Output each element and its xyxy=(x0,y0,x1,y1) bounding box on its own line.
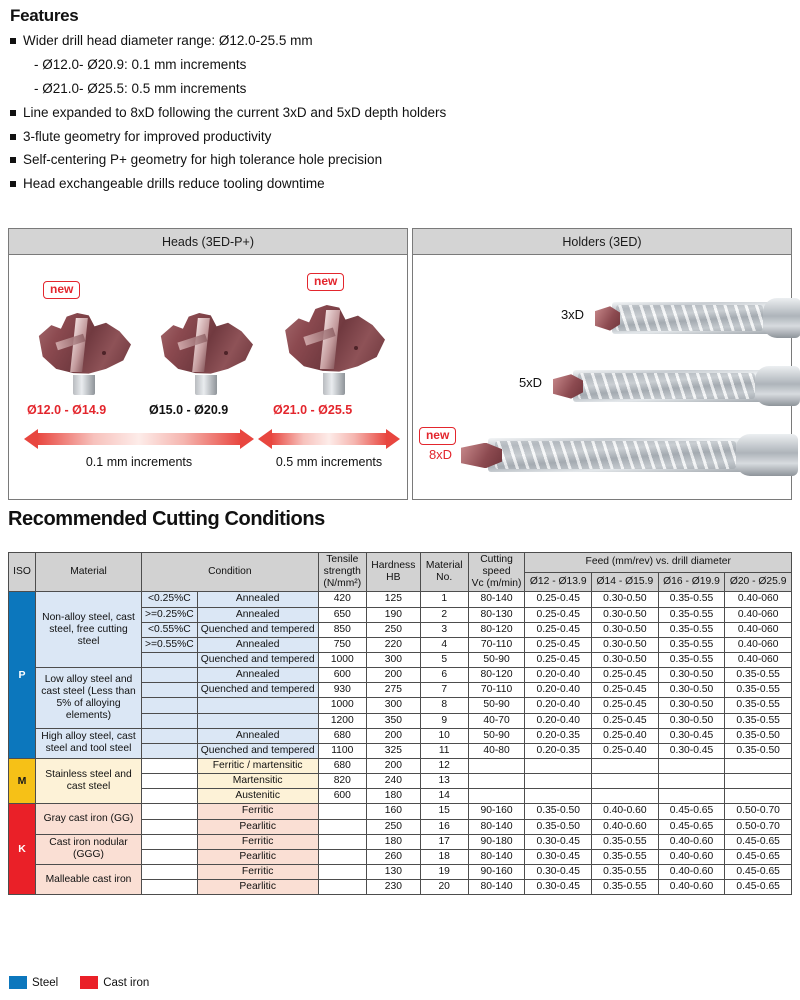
condition-value: Annealed xyxy=(197,668,318,683)
feed-value-1: 0.35-0.50 xyxy=(525,819,592,834)
legend: SteelCast iron xyxy=(9,976,171,989)
feed-value-3: 0.30-0.50 xyxy=(658,668,725,683)
iso-group-k: K xyxy=(9,804,36,895)
material-no-value: 11 xyxy=(420,743,468,758)
hardness-value: 240 xyxy=(366,774,420,789)
feed-value-2: 0.40-0.60 xyxy=(592,804,659,819)
condition-value: Ferritic xyxy=(197,864,318,879)
cutting-conditions-table: ISO Material Condition Tensile strength … xyxy=(8,552,792,895)
feed-value-1: 0.30-0.45 xyxy=(525,880,592,895)
condition-value: Quenched and tempered xyxy=(197,683,318,698)
hardness-value: 200 xyxy=(366,728,420,743)
feed-value-4: 0.40-060 xyxy=(725,637,792,652)
cutting-speed-value: 50-90 xyxy=(468,698,525,713)
header-hardness: Hardness HB xyxy=(366,553,420,592)
tensile-strength-value xyxy=(318,864,366,879)
header-hardness-line1: Hardness xyxy=(371,560,415,571)
condition-value: Austenitic xyxy=(197,789,318,804)
iso-group-p: P xyxy=(9,592,36,759)
legend-item: Steel xyxy=(9,976,58,989)
increment-arrow-01mm xyxy=(37,433,241,445)
feed-value-3: 0.30-0.50 xyxy=(658,698,725,713)
feed-value-3 xyxy=(658,774,725,789)
legend-item: Cast iron xyxy=(80,976,149,989)
header-material-no-line2: No. xyxy=(436,572,452,583)
feed-value-4: 0.35-0.55 xyxy=(725,668,792,683)
table-header: ISO Material Condition Tensile strength … xyxy=(9,553,792,592)
head-diameter-label-1: Ø12.0 - Ø14.9 xyxy=(27,403,106,417)
features-heading: Features xyxy=(10,6,792,26)
holders-panel: Holders (3ED) 3xD 5xD new 8xD xyxy=(412,228,792,500)
feature-item: 3-flute geometry for improved productivi… xyxy=(10,129,792,146)
feed-value-4: 0.50-0.70 xyxy=(725,804,792,819)
carbon-content xyxy=(142,864,198,879)
hardness-value: 180 xyxy=(366,789,420,804)
feed-value-3 xyxy=(658,789,725,804)
material-no-value: 16 xyxy=(420,819,468,834)
feed-value-2 xyxy=(592,789,659,804)
hardness-value: 200 xyxy=(366,668,420,683)
condition-value: Ferritic xyxy=(197,804,318,819)
feature-item: Line expanded to 8xD following the curre… xyxy=(10,105,792,122)
cutting-speed-value: 80-130 xyxy=(468,607,525,622)
feed-value-1: 0.20-0.40 xyxy=(525,713,592,728)
hardness-value: 220 xyxy=(366,637,420,652)
holder-label-3xd: 3xD xyxy=(561,307,584,322)
tensile-strength-value: 850 xyxy=(318,622,366,637)
material-no-value: 13 xyxy=(420,774,468,789)
feed-value-2: 0.30-0.50 xyxy=(592,622,659,637)
feature-sub-item: - Ø21.0- Ø25.5: 0.5 mm increments xyxy=(34,81,792,98)
material-no-value: 10 xyxy=(420,728,468,743)
table-row: MStainless steel and cast steelFerritic … xyxy=(9,758,792,773)
carbon-content xyxy=(142,758,198,773)
material-name: Malleable cast iron xyxy=(35,864,141,894)
head-diameter-label-2: Ø15.0 - Ø20.9 xyxy=(149,403,228,417)
condition-value: Ferritic xyxy=(197,834,318,849)
header-cutting-speed: Cutting speed Vc (m/min) xyxy=(468,553,525,592)
iso-group-m: M xyxy=(9,758,36,803)
holders-panel-body: 3xD 5xD new 8xD xyxy=(413,255,791,499)
feed-value-2 xyxy=(592,758,659,773)
cutting-speed-value: 90-180 xyxy=(468,834,525,849)
heads-panel-body: new Ø12.0 - Ø14.9 Ø15.0 - Ø20.9 new xyxy=(9,255,407,499)
feature-text: Line expanded to 8xD following the curre… xyxy=(23,105,446,122)
tensile-strength-value: 1100 xyxy=(318,743,366,758)
cutting-speed-value: 90-160 xyxy=(468,804,525,819)
tensile-strength-value xyxy=(318,880,366,895)
feed-value-3: 0.30-0.45 xyxy=(658,728,725,743)
carbon-content xyxy=(142,819,198,834)
feed-value-1: 0.30-0.45 xyxy=(525,864,592,879)
cutting-speed-value: 80-140 xyxy=(468,819,525,834)
hardness-value: 160 xyxy=(366,804,420,819)
new-badge-head-1: new xyxy=(43,281,80,299)
feed-value-4: 0.40-060 xyxy=(725,622,792,637)
feed-value-3: 0.30-0.50 xyxy=(658,713,725,728)
bullet-icon xyxy=(10,181,16,187)
condition-value: Quenched and tempered xyxy=(197,622,318,637)
feed-value-2: 0.35-0.55 xyxy=(592,880,659,895)
feed-value-4: 0.45-0.65 xyxy=(725,849,792,864)
hardness-value: 250 xyxy=(366,819,420,834)
cutting-speed-value: 40-80 xyxy=(468,743,525,758)
bullet-icon xyxy=(10,134,16,140)
holder-illustration-5xd xyxy=(553,365,800,407)
feed-value-1: 0.25-0.45 xyxy=(525,652,592,667)
hardness-value: 190 xyxy=(366,607,420,622)
feed-value-2 xyxy=(592,774,659,789)
material-no-value: 7 xyxy=(420,683,468,698)
cutting-speed-value: 50-90 xyxy=(468,652,525,667)
tensile-strength-value: 1200 xyxy=(318,713,366,728)
carbon-content: >=0.25%C xyxy=(142,607,198,622)
material-name: Non-alloy steel, cast steel, free cuttin… xyxy=(35,592,141,668)
heads-panel: Heads (3ED-P+) new Ø12.0 - Ø14.9 Ø15.0 -… xyxy=(8,228,408,500)
feature-item: Self-centering P+ geometry for high tole… xyxy=(10,152,792,169)
tensile-strength-value: 680 xyxy=(318,728,366,743)
carbon-content xyxy=(142,652,198,667)
feed-value-2: 0.30-0.50 xyxy=(592,652,659,667)
cutting-speed-value: 80-140 xyxy=(468,849,525,864)
hardness-value: 325 xyxy=(366,743,420,758)
feed-value-3: 0.35-0.55 xyxy=(658,592,725,607)
drill-head-figure-2 xyxy=(157,313,257,395)
carbon-content xyxy=(142,789,198,804)
feed-value-4: 0.35-0.50 xyxy=(725,728,792,743)
header-feed-col-4: Ø20 - Ø25.9 xyxy=(725,572,792,592)
feed-value-2: 0.35-0.55 xyxy=(592,834,659,849)
material-no-value: 3 xyxy=(420,622,468,637)
features-list: Wider drill head diameter range: Ø12.0-2… xyxy=(8,33,792,193)
tensile-strength-value: 1000 xyxy=(318,652,366,667)
tensile-strength-value: 820 xyxy=(318,774,366,789)
cutting-speed-value: 80-140 xyxy=(468,592,525,607)
hardness-value: 260 xyxy=(366,849,420,864)
feed-value-4: 0.40-060 xyxy=(725,652,792,667)
feature-item: Head exchangeable drills reduce tooling … xyxy=(10,176,792,193)
cutting-speed-value: 70-110 xyxy=(468,637,525,652)
cutting-speed-value xyxy=(468,758,525,773)
feed-value-1 xyxy=(525,758,592,773)
holder-label-8xd: 8xD xyxy=(429,447,452,462)
feed-value-1 xyxy=(525,774,592,789)
carbon-content xyxy=(142,880,198,895)
new-badge-holder-8xd: new xyxy=(419,427,456,445)
cutting-speed-value: 40-70 xyxy=(468,713,525,728)
feed-value-1: 0.25-0.45 xyxy=(525,607,592,622)
carbon-content xyxy=(142,743,198,758)
material-no-value: 14 xyxy=(420,789,468,804)
material-no-value: 12 xyxy=(420,758,468,773)
feed-value-4: 0.45-0.65 xyxy=(725,864,792,879)
holder-illustration-3xd xyxy=(595,297,800,339)
header-cutting-line2: speed xyxy=(483,566,511,577)
feature-text: 3-flute geometry for improved productivi… xyxy=(23,129,271,146)
carbon-content xyxy=(142,683,198,698)
table-row: Low alloy steel and cast steel (Less tha… xyxy=(9,668,792,683)
feed-value-1: 0.20-0.35 xyxy=(525,728,592,743)
feed-value-1: 0.35-0.50 xyxy=(525,804,592,819)
material-name: Low alloy steel and cast steel (Less tha… xyxy=(35,668,141,729)
feed-value-3: 0.35-0.55 xyxy=(658,607,725,622)
increment-label-01mm: 0.1 mm increments xyxy=(37,455,241,469)
feed-value-4: 0.45-0.65 xyxy=(725,880,792,895)
header-feed-col-2: Ø14 - Ø15.9 xyxy=(592,572,659,592)
hardness-value: 200 xyxy=(366,758,420,773)
feed-value-3: 0.40-0.60 xyxy=(658,834,725,849)
drill-head-figure-1: new xyxy=(35,307,135,395)
header-condition: Condition xyxy=(142,553,319,592)
feed-value-2: 0.30-0.50 xyxy=(592,592,659,607)
feed-value-1: 0.20-0.40 xyxy=(525,668,592,683)
material-name: Gray cast iron (GG) xyxy=(35,804,141,834)
cutting-speed-value: 80-120 xyxy=(468,622,525,637)
feed-value-1: 0.20-0.35 xyxy=(525,743,592,758)
hardness-value: 350 xyxy=(366,713,420,728)
bullet-icon xyxy=(10,38,16,44)
carbon-content xyxy=(142,804,198,819)
feed-value-2: 0.25-0.45 xyxy=(592,683,659,698)
feed-value-1: 0.25-0.45 xyxy=(525,592,592,607)
drill-head-figure-3: new xyxy=(281,301,391,395)
legend-label: Cast iron xyxy=(103,977,149,989)
legend-swatch xyxy=(9,976,27,989)
carbon-content xyxy=(142,713,198,728)
condition-value: Pearlitic xyxy=(197,880,318,895)
feed-value-1: 0.25-0.45 xyxy=(525,622,592,637)
cutting-speed-value: 50-90 xyxy=(468,728,525,743)
feed-value-4 xyxy=(725,789,792,804)
tensile-strength-value: 650 xyxy=(318,607,366,622)
header-material: Material xyxy=(35,553,141,592)
cutting-speed-value: 80-140 xyxy=(468,880,525,895)
feed-value-2: 0.35-0.55 xyxy=(592,849,659,864)
carbon-content xyxy=(142,849,198,864)
hardness-value: 275 xyxy=(366,683,420,698)
feed-value-2: 0.25-0.45 xyxy=(592,668,659,683)
header-feed-col-1: Ø12 - Ø13.9 xyxy=(525,572,592,592)
new-badge-head-3: new xyxy=(307,273,344,291)
hardness-value: 230 xyxy=(366,880,420,895)
condition-value: Annealed xyxy=(197,637,318,652)
hardness-value: 300 xyxy=(366,652,420,667)
heads-panel-title: Heads (3ED-P+) xyxy=(9,229,407,255)
feed-value-3: 0.40-0.60 xyxy=(658,864,725,879)
material-no-value: 18 xyxy=(420,849,468,864)
feed-value-1: 0.20-0.40 xyxy=(525,683,592,698)
carbon-content xyxy=(142,668,198,683)
header-material-no: Material No. xyxy=(420,553,468,592)
header-cutting-line1: Cutting xyxy=(480,554,513,565)
header-tensile-strength: Tensile strength (N/mm²) xyxy=(318,553,366,592)
material-no-value: 5 xyxy=(420,652,468,667)
feed-value-4: 0.35-0.55 xyxy=(725,683,792,698)
hardness-value: 125 xyxy=(366,592,420,607)
hardness-value: 130 xyxy=(366,864,420,879)
feed-value-3: 0.30-0.45 xyxy=(658,743,725,758)
tensile-strength-value: 750 xyxy=(318,637,366,652)
feed-value-4: 0.35-0.55 xyxy=(725,713,792,728)
material-no-value: 1 xyxy=(420,592,468,607)
table-row: PNon-alloy steel, cast steel, free cutti… xyxy=(9,592,792,607)
material-no-value: 15 xyxy=(420,804,468,819)
cutting-speed-value: 90-160 xyxy=(468,864,525,879)
condition-value: Pearlitic xyxy=(197,819,318,834)
material-no-value: 6 xyxy=(420,668,468,683)
tensile-strength-value: 680 xyxy=(318,758,366,773)
tensile-strength-value xyxy=(318,849,366,864)
feed-value-4 xyxy=(725,774,792,789)
condition-value: Annealed xyxy=(197,728,318,743)
tensile-strength-value: 420 xyxy=(318,592,366,607)
header-feed-col-3: Ø16 - Ø19.9 xyxy=(658,572,725,592)
feed-value-2: 0.25-0.45 xyxy=(592,713,659,728)
holder-illustration-8xd xyxy=(461,433,800,477)
tensile-strength-value: 600 xyxy=(318,789,366,804)
hardness-value: 250 xyxy=(366,622,420,637)
feed-value-2: 0.25-0.40 xyxy=(592,728,659,743)
cutting-speed-value xyxy=(468,774,525,789)
feed-value-3: 0.40-0.60 xyxy=(658,849,725,864)
table-row: Malleable cast ironFerritic1301990-1600.… xyxy=(9,864,792,879)
table-row: Cast iron nodular (GGG)Ferritic1801790-1… xyxy=(9,834,792,849)
condition-value xyxy=(197,698,318,713)
hardness-value: 300 xyxy=(366,698,420,713)
material-no-value: 9 xyxy=(420,713,468,728)
material-no-value: 8 xyxy=(420,698,468,713)
table-body: PNon-alloy steel, cast steel, free cutti… xyxy=(9,592,792,895)
increment-arrow-05mm xyxy=(271,433,387,445)
product-panels: Heads (3ED-P+) new Ø12.0 - Ø14.9 Ø15.0 -… xyxy=(8,228,792,500)
increment-label-05mm: 0.5 mm increments xyxy=(263,455,395,469)
increment-arrows xyxy=(9,431,407,453)
feed-value-3: 0.40-0.60 xyxy=(658,880,725,895)
feed-value-3 xyxy=(658,758,725,773)
feed-value-1: 0.30-0.45 xyxy=(525,834,592,849)
bullet-icon xyxy=(10,157,16,163)
feed-value-2: 0.30-0.50 xyxy=(592,607,659,622)
header-tensile-line2: strength xyxy=(324,566,361,577)
material-no-value: 17 xyxy=(420,834,468,849)
tensile-strength-value: 1000 xyxy=(318,698,366,713)
legend-label: Steel xyxy=(32,977,58,989)
header-feed-group: Feed (mm/rev) vs. drill diameter xyxy=(525,553,792,573)
cutting-speed-value: 80-120 xyxy=(468,668,525,683)
material-no-value: 19 xyxy=(420,864,468,879)
feed-value-2: 0.30-0.50 xyxy=(592,637,659,652)
feed-value-2: 0.35-0.55 xyxy=(592,864,659,879)
feature-item: Wider drill head diameter range: Ø12.0-2… xyxy=(10,33,792,50)
carbon-content: <0.25%C xyxy=(142,592,198,607)
carbon-content: <0.55%C xyxy=(142,622,198,637)
header-hardness-line2: HB xyxy=(386,572,400,583)
feed-value-3: 0.45-0.65 xyxy=(658,804,725,819)
condition-value: Annealed xyxy=(197,592,318,607)
features-section: Features Wider drill head diameter range… xyxy=(0,0,800,193)
feed-value-3: 0.30-0.50 xyxy=(658,683,725,698)
carbon-content xyxy=(142,728,198,743)
feed-value-1: 0.20-0.40 xyxy=(525,698,592,713)
feed-value-2: 0.40-0.60 xyxy=(592,819,659,834)
condition-value: Annealed xyxy=(197,607,318,622)
condition-value: Ferritic / martensitic xyxy=(197,758,318,773)
header-iso: ISO xyxy=(9,553,36,592)
material-name: Cast iron nodular (GGG) xyxy=(35,834,141,864)
feed-value-4: 0.35-0.55 xyxy=(725,698,792,713)
condition-value: Quenched and tempered xyxy=(197,652,318,667)
feed-value-1 xyxy=(525,789,592,804)
feature-text: Self-centering P+ geometry for high tole… xyxy=(23,152,382,169)
drill-head-illustration-3 xyxy=(281,305,385,395)
header-cutting-line3: Vc (m/min) xyxy=(472,578,522,589)
feed-value-3: 0.35-0.55 xyxy=(658,637,725,652)
table-row: KGray cast iron (GG)Ferritic1601590-1600… xyxy=(9,804,792,819)
condition-value: Quenched and tempered xyxy=(197,743,318,758)
drill-head-illustration-2 xyxy=(157,313,253,395)
cutting-speed-value xyxy=(468,789,525,804)
cutting-speed-value: 70-110 xyxy=(468,683,525,698)
feature-text: Wider drill head diameter range: Ø12.0-2… xyxy=(23,33,313,50)
tensile-strength-value xyxy=(318,804,366,819)
holders-panel-title: Holders (3ED) xyxy=(413,229,791,255)
feature-text: Head exchangeable drills reduce tooling … xyxy=(23,176,325,193)
material-no-value: 20 xyxy=(420,880,468,895)
condition-value: Pearlitic xyxy=(197,849,318,864)
feed-value-2: 0.25-0.40 xyxy=(592,743,659,758)
holder-label-5xd: 5xD xyxy=(519,375,542,390)
feed-value-3: 0.35-0.55 xyxy=(658,622,725,637)
carbon-content xyxy=(142,774,198,789)
bullet-icon xyxy=(10,110,16,116)
carbon-content: >=0.55%C xyxy=(142,637,198,652)
feature-sub-item: - Ø12.0- Ø20.9: 0.1 mm increments xyxy=(34,57,792,74)
tensile-strength-value xyxy=(318,834,366,849)
condition-value xyxy=(197,713,318,728)
feed-value-4 xyxy=(725,758,792,773)
legend-swatch xyxy=(80,976,98,989)
header-tensile-line1: Tensile xyxy=(326,554,358,565)
tensile-strength-value: 600 xyxy=(318,668,366,683)
header-tensile-line3: (N/mm²) xyxy=(323,578,361,589)
condition-value: Martensitic xyxy=(197,774,318,789)
feed-value-1: 0.30-0.45 xyxy=(525,849,592,864)
material-name: Stainless steel and cast steel xyxy=(35,758,141,803)
material-name: High alloy steel, cast steel and tool st… xyxy=(35,728,141,758)
tensile-strength-value xyxy=(318,819,366,834)
hardness-value: 180 xyxy=(366,834,420,849)
feed-value-1: 0.25-0.45 xyxy=(525,637,592,652)
table-header-row-1: ISO Material Condition Tensile strength … xyxy=(9,553,792,573)
tensile-strength-value: 930 xyxy=(318,683,366,698)
material-no-value: 4 xyxy=(420,637,468,652)
carbon-content xyxy=(142,834,198,849)
table-row: High alloy steel, cast steel and tool st… xyxy=(9,728,792,743)
header-material-no-line1: Material xyxy=(426,560,463,571)
feed-value-4: 0.50-0.70 xyxy=(725,819,792,834)
table-title: Recommended Cutting Conditions xyxy=(8,508,325,531)
drill-head-illustration-1 xyxy=(35,313,131,395)
head-diameter-label-3: Ø21.0 - Ø25.5 xyxy=(273,403,352,417)
feed-value-4: 0.35-0.50 xyxy=(725,743,792,758)
feed-value-4: 0.45-0.65 xyxy=(725,834,792,849)
feed-value-2: 0.25-0.45 xyxy=(592,698,659,713)
feed-value-3: 0.35-0.55 xyxy=(658,652,725,667)
material-no-value: 2 xyxy=(420,607,468,622)
feed-value-3: 0.45-0.65 xyxy=(658,819,725,834)
feed-value-4: 0.40-060 xyxy=(725,592,792,607)
feed-value-4: 0.40-060 xyxy=(725,607,792,622)
